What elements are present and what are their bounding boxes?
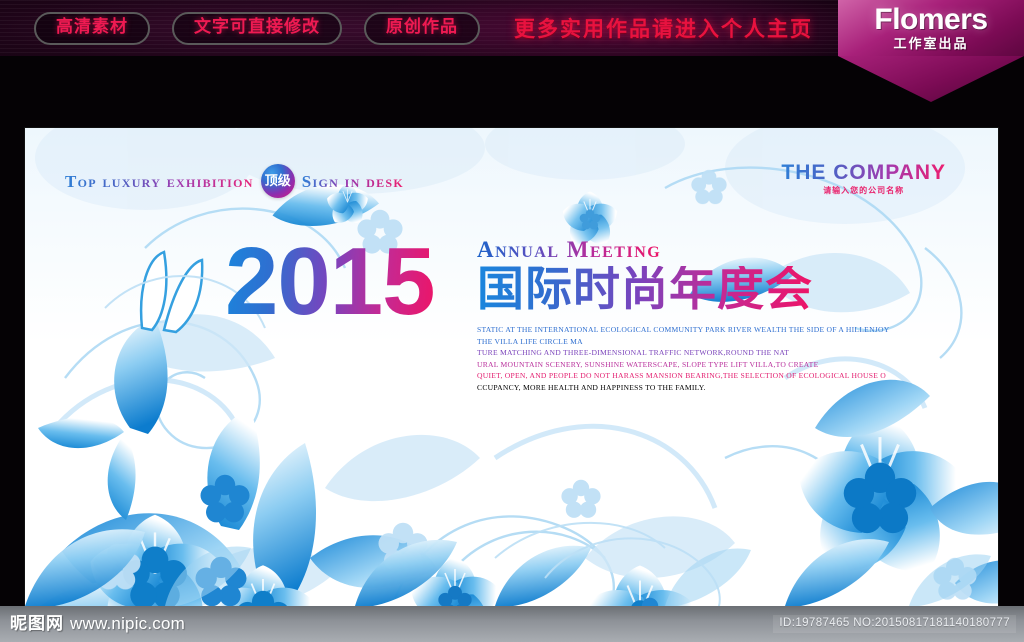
promo-tag-original[interactable]: 原创作品 [364,12,480,45]
poster-tagline: Top luxury exhibition 顶级 Sign in desk [65,164,404,198]
brand-name: Flomers [874,5,987,35]
body-copy-line: URAL MOUNTAIN SCENERY, SUNSHINE WATERSCA… [477,359,867,371]
promo-tag-editable-text[interactable]: 文字可直接修改 [172,12,342,45]
promo-tag-hd[interactable]: 高清素材 [34,12,150,45]
site-name-cn: 昵图网 [10,616,64,633]
premium-badge: 顶级 [261,164,295,198]
company-name-placeholder: 请输入您的公司名称 [781,187,946,195]
poster-canvas[interactable]: Top luxury exhibition 顶级 Sign in desk TH… [25,128,998,606]
company-name: THE COMPANY [781,162,946,183]
footer-bar: 昵图网 www.nipic.com ID:19787465 NO:2015081… [0,606,1024,642]
body-copy-line: CCUPANCY, MORE HEALTH AND HAPPINESS TO T… [477,382,867,394]
asset-id-label: ID:19787465 NO:20150817181140180777 [773,615,1016,633]
english-title: Annual Meeting [477,238,661,261]
body-copy-line: THE VILLA LIFE CIRCLE MA [477,336,867,348]
body-copy-line: TURE MATCHING AND THREE-DIMENSIONAL TRAF… [477,347,867,359]
body-copy: STATIC AT THE INTERNATIONAL ECOLOGICAL C… [477,324,867,393]
body-copy-line: QUIET, OPEN, AND PEOPLE DO NOT HARASS MA… [477,370,867,382]
brand-subtitle: 工作室出品 [893,38,968,51]
brand-ribbon[interactable]: Flomers 工作室出品 [838,0,1024,56]
body-copy-line: STATIC AT THE INTERNATIONAL ECOLOGICAL C… [477,324,867,336]
promo-headline: 更多实用作品请进入个人主页 [514,13,813,43]
premium-badge-label: 顶级 [265,175,291,188]
site-branding[interactable]: 昵图网 www.nipic.com [10,615,185,633]
brand-ribbon-tail [838,56,1024,102]
company-logo: THE COMPANY 请输入您的公司名称 [781,162,946,195]
tagline-left-text: Top luxury exhibition [65,173,254,190]
chinese-title: 国际时尚年度会 [477,266,813,313]
site-url[interactable]: www.nipic.com [70,615,185,632]
tagline-right-text: Sign in desk [302,173,404,190]
year-headline: 2015 [225,234,435,330]
